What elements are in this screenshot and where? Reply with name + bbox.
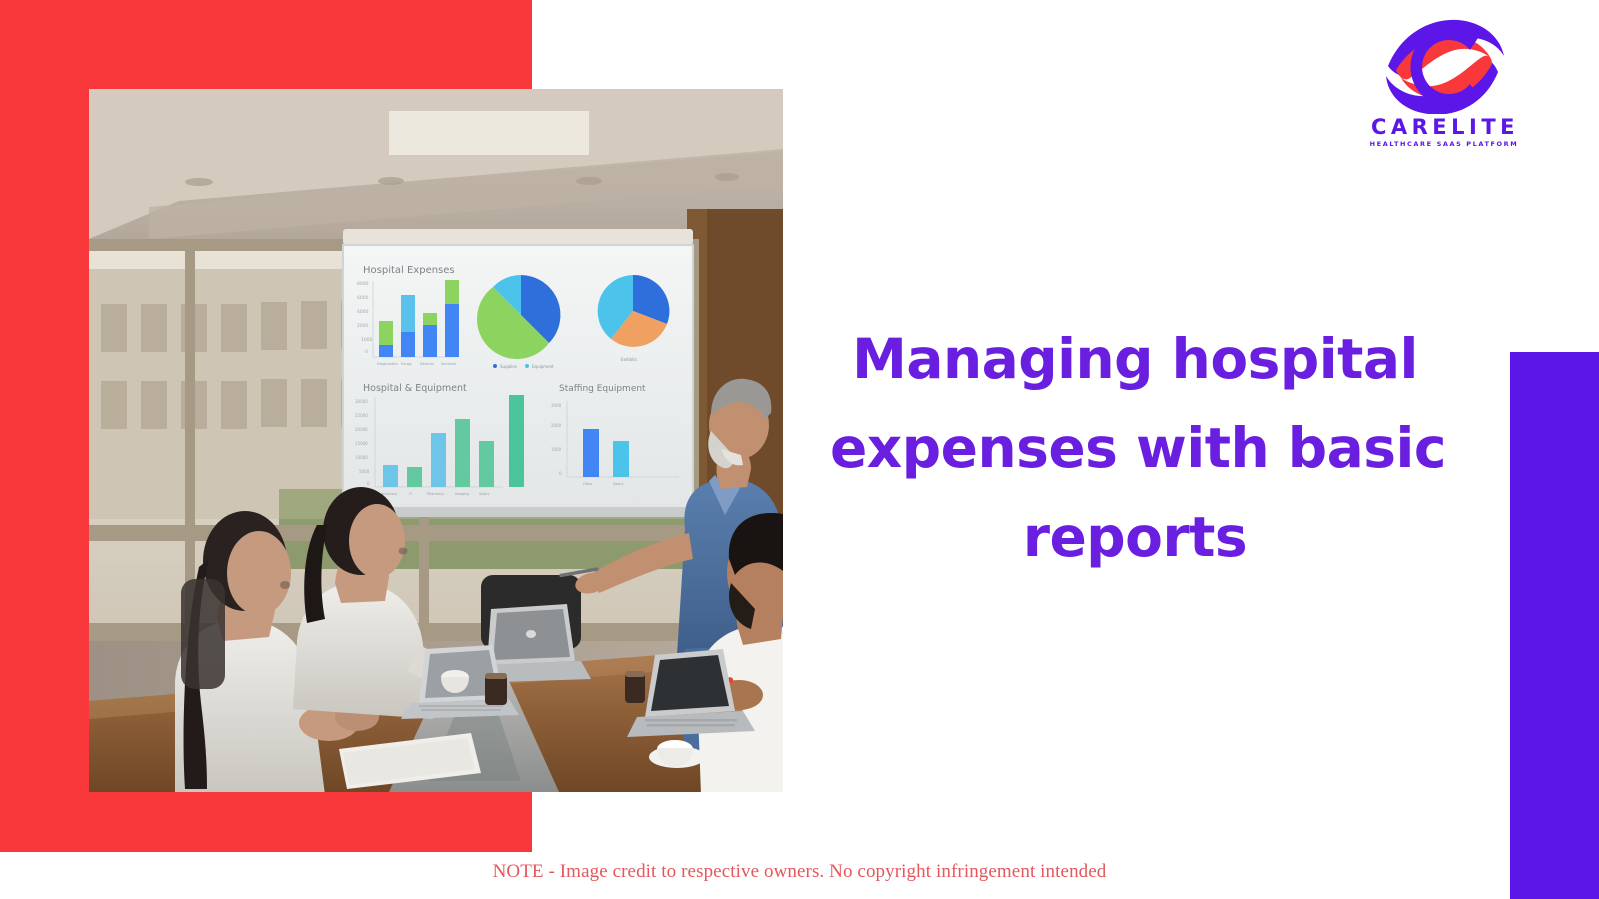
carelite-c-mark-icon: [1366, 14, 1520, 114]
svg-text:1000: 1000: [551, 447, 562, 452]
svg-text:1000: 1000: [361, 337, 373, 343]
svg-text:2000: 2000: [357, 323, 369, 329]
svg-text:Hospital & Equipment: Hospital & Equipment: [363, 383, 467, 394]
logo-tagline: HEALTHCARE SAAS PLATFORM: [1366, 139, 1520, 150]
svg-text:Staffing Equipment: Staffing Equipment: [559, 384, 646, 394]
page-title-line-3: reports: [830, 493, 1440, 582]
svg-text:15000: 15000: [355, 441, 368, 446]
svg-text:0: 0: [365, 349, 368, 355]
page-title-line-2: expenses with basic: [830, 404, 1440, 493]
svg-text:Devices: Devices: [420, 362, 434, 366]
svg-text:25000: 25000: [355, 413, 368, 418]
meeting-photo: Hospital Expenses 80006000 40002000 1000…: [89, 89, 783, 792]
svg-text:Salary: Salary: [613, 482, 624, 486]
purple-accent-block: [1510, 352, 1599, 899]
svg-text:Salary: Salary: [479, 492, 490, 496]
logo-wordmark: CARELITE: [1366, 115, 1520, 139]
svg-text:Supplies: Supplies: [500, 364, 517, 369]
page-title: Managing hospital expenses with basic re…: [830, 315, 1440, 582]
svg-text:20000: 20000: [355, 427, 368, 432]
svg-text:Equipment: Equipment: [532, 364, 554, 369]
carelite-logo[interactable]: CARELITE HEALTHCARE SAAS PLATFORM: [1366, 14, 1520, 160]
svg-text:Services: Services: [441, 362, 456, 366]
svg-text:8000: 8000: [357, 281, 369, 287]
svg-text:Other: Other: [583, 482, 593, 486]
meeting-photo-illustration: Hospital Expenses 80006000 40002000 1000…: [89, 89, 783, 792]
svg-text:Inventory: Inventory: [381, 492, 397, 496]
svg-text:10000: 10000: [355, 455, 368, 460]
svg-text:Pharmacy: Pharmacy: [427, 492, 444, 496]
svg-text:3000: 3000: [551, 403, 562, 408]
svg-text:Diagnostics: Diagnostics: [377, 362, 398, 366]
svg-text:Imaging: Imaging: [455, 492, 469, 496]
svg-text:5000: 5000: [359, 469, 370, 474]
svg-text:30000: 30000: [355, 399, 368, 404]
svg-text:Exhibits: Exhibits: [621, 357, 637, 362]
copyright-note: NOTE - Image credit to respective owners…: [0, 861, 1599, 883]
svg-text:Drugs: Drugs: [401, 362, 412, 366]
svg-text:2000: 2000: [551, 423, 562, 428]
svg-text:6000: 6000: [357, 295, 369, 301]
svg-text:Hospital Expenses: Hospital Expenses: [363, 265, 455, 276]
svg-text:4000: 4000: [357, 309, 369, 315]
page-title-line-1: Managing hospital: [830, 315, 1440, 404]
